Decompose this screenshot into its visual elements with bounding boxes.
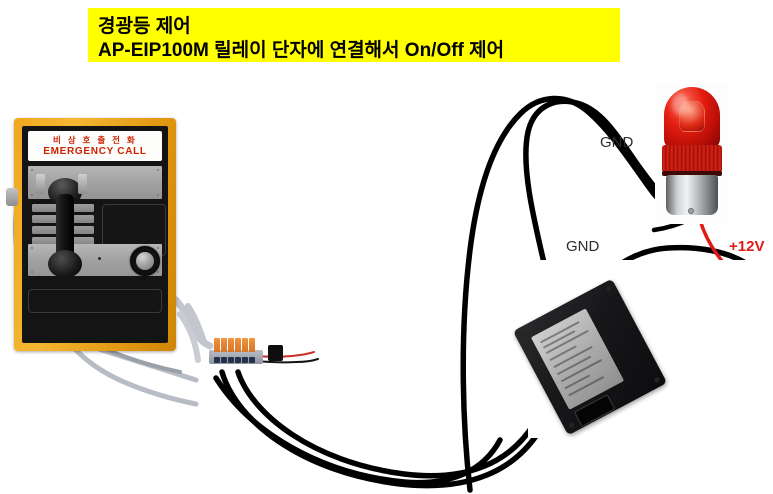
gnd-wire-lower-sweep <box>216 378 500 483</box>
terminal-port <box>249 357 255 363</box>
adapter-screw <box>520 331 527 338</box>
label-positive-12v: +12V <box>729 238 764 255</box>
phone-right-cable-2 <box>188 306 204 342</box>
terminal-lever[interactable] <box>242 338 248 352</box>
sign-text-korean: 비 상 호 출 전 화 <box>53 135 137 146</box>
terminal-lever[interactable] <box>221 338 227 352</box>
adapter-screw <box>568 422 575 429</box>
title-banner: 경광등 제어 AP-EIP100M 릴레이 단자에 연결해서 On/Off 제어 <box>88 8 620 62</box>
label-gnd-beacon: GND <box>600 134 633 151</box>
terminal-port <box>242 357 248 363</box>
adapter-screw <box>654 376 661 383</box>
terminal-port <box>235 357 241 363</box>
panel-screw <box>31 194 33 196</box>
adapter-brick-body <box>513 279 667 436</box>
panel-screw <box>157 247 159 249</box>
terminal-lever[interactable] <box>228 338 234 352</box>
relay-connector <box>268 345 283 361</box>
sign-text-english: EMERGENCY CALL <box>43 146 147 158</box>
adapter-screw <box>605 285 612 292</box>
title-line-1: 경광등 제어 <box>98 11 191 38</box>
panel-screw <box>31 271 33 273</box>
handset-cradle-left <box>36 174 45 194</box>
dc-power-adapter <box>528 260 766 438</box>
relay-wire-red <box>256 352 314 357</box>
terminal-port <box>221 357 227 363</box>
adapter-rating-label <box>531 308 624 410</box>
handset-mouthpiece <box>48 250 82 278</box>
emergency-call-button[interactable] <box>130 246 160 276</box>
terminal-port <box>214 357 220 363</box>
beacon-base-screw <box>688 208 694 214</box>
panel-screw <box>157 194 159 196</box>
emergency-call-phone: 비 상 호 출 전 화 EMERGENCY CALL <box>14 118 176 351</box>
phone-side-cable-port <box>6 188 18 206</box>
phone-bottom-slot <box>28 289 162 313</box>
phone-frame: 비 상 호 출 전 화 EMERGENCY CALL <box>14 118 176 351</box>
label-gnd-adapter: GND <box>566 238 599 255</box>
terminal-lever-row[interactable] <box>214 338 258 352</box>
lever-terminal-block[interactable] <box>209 338 263 366</box>
terminal-port-row <box>214 357 258 363</box>
terminal-lever[interactable] <box>214 338 220 352</box>
phone-right-cable <box>176 300 210 346</box>
terminal-port <box>228 357 234 363</box>
beacon-dome-highlight <box>672 93 688 115</box>
panel-screw <box>157 169 159 171</box>
panel-screw <box>31 247 33 249</box>
emergency-call-sign: 비 상 호 출 전 화 EMERGENCY CALL <box>28 131 162 161</box>
label-text-line <box>568 376 604 397</box>
diagram-canvas: 경광등 제어 AP-EIP100M 릴레이 단자에 연결해서 On/Off 제어… <box>0 0 773 494</box>
phone-wall-cable <box>180 314 198 360</box>
handset-cradle-right <box>78 174 87 194</box>
beacon-ribbed-body <box>662 145 722 173</box>
terminal-lever[interactable] <box>249 338 255 352</box>
panel-screw <box>31 169 33 171</box>
status-led-icon <box>98 257 101 260</box>
panel-screw <box>157 271 159 273</box>
title-line-2: AP-EIP100M 릴레이 단자에 연결해서 On/Off 제어 <box>98 35 504 62</box>
terminal-lever[interactable] <box>235 338 241 352</box>
phone-handset[interactable] <box>48 178 82 278</box>
rotating-warning-beacon <box>655 83 729 224</box>
phone-body: 비 상 호 출 전 화 EMERGENCY CALL <box>22 126 168 343</box>
relay-wire-black <box>256 359 318 362</box>
